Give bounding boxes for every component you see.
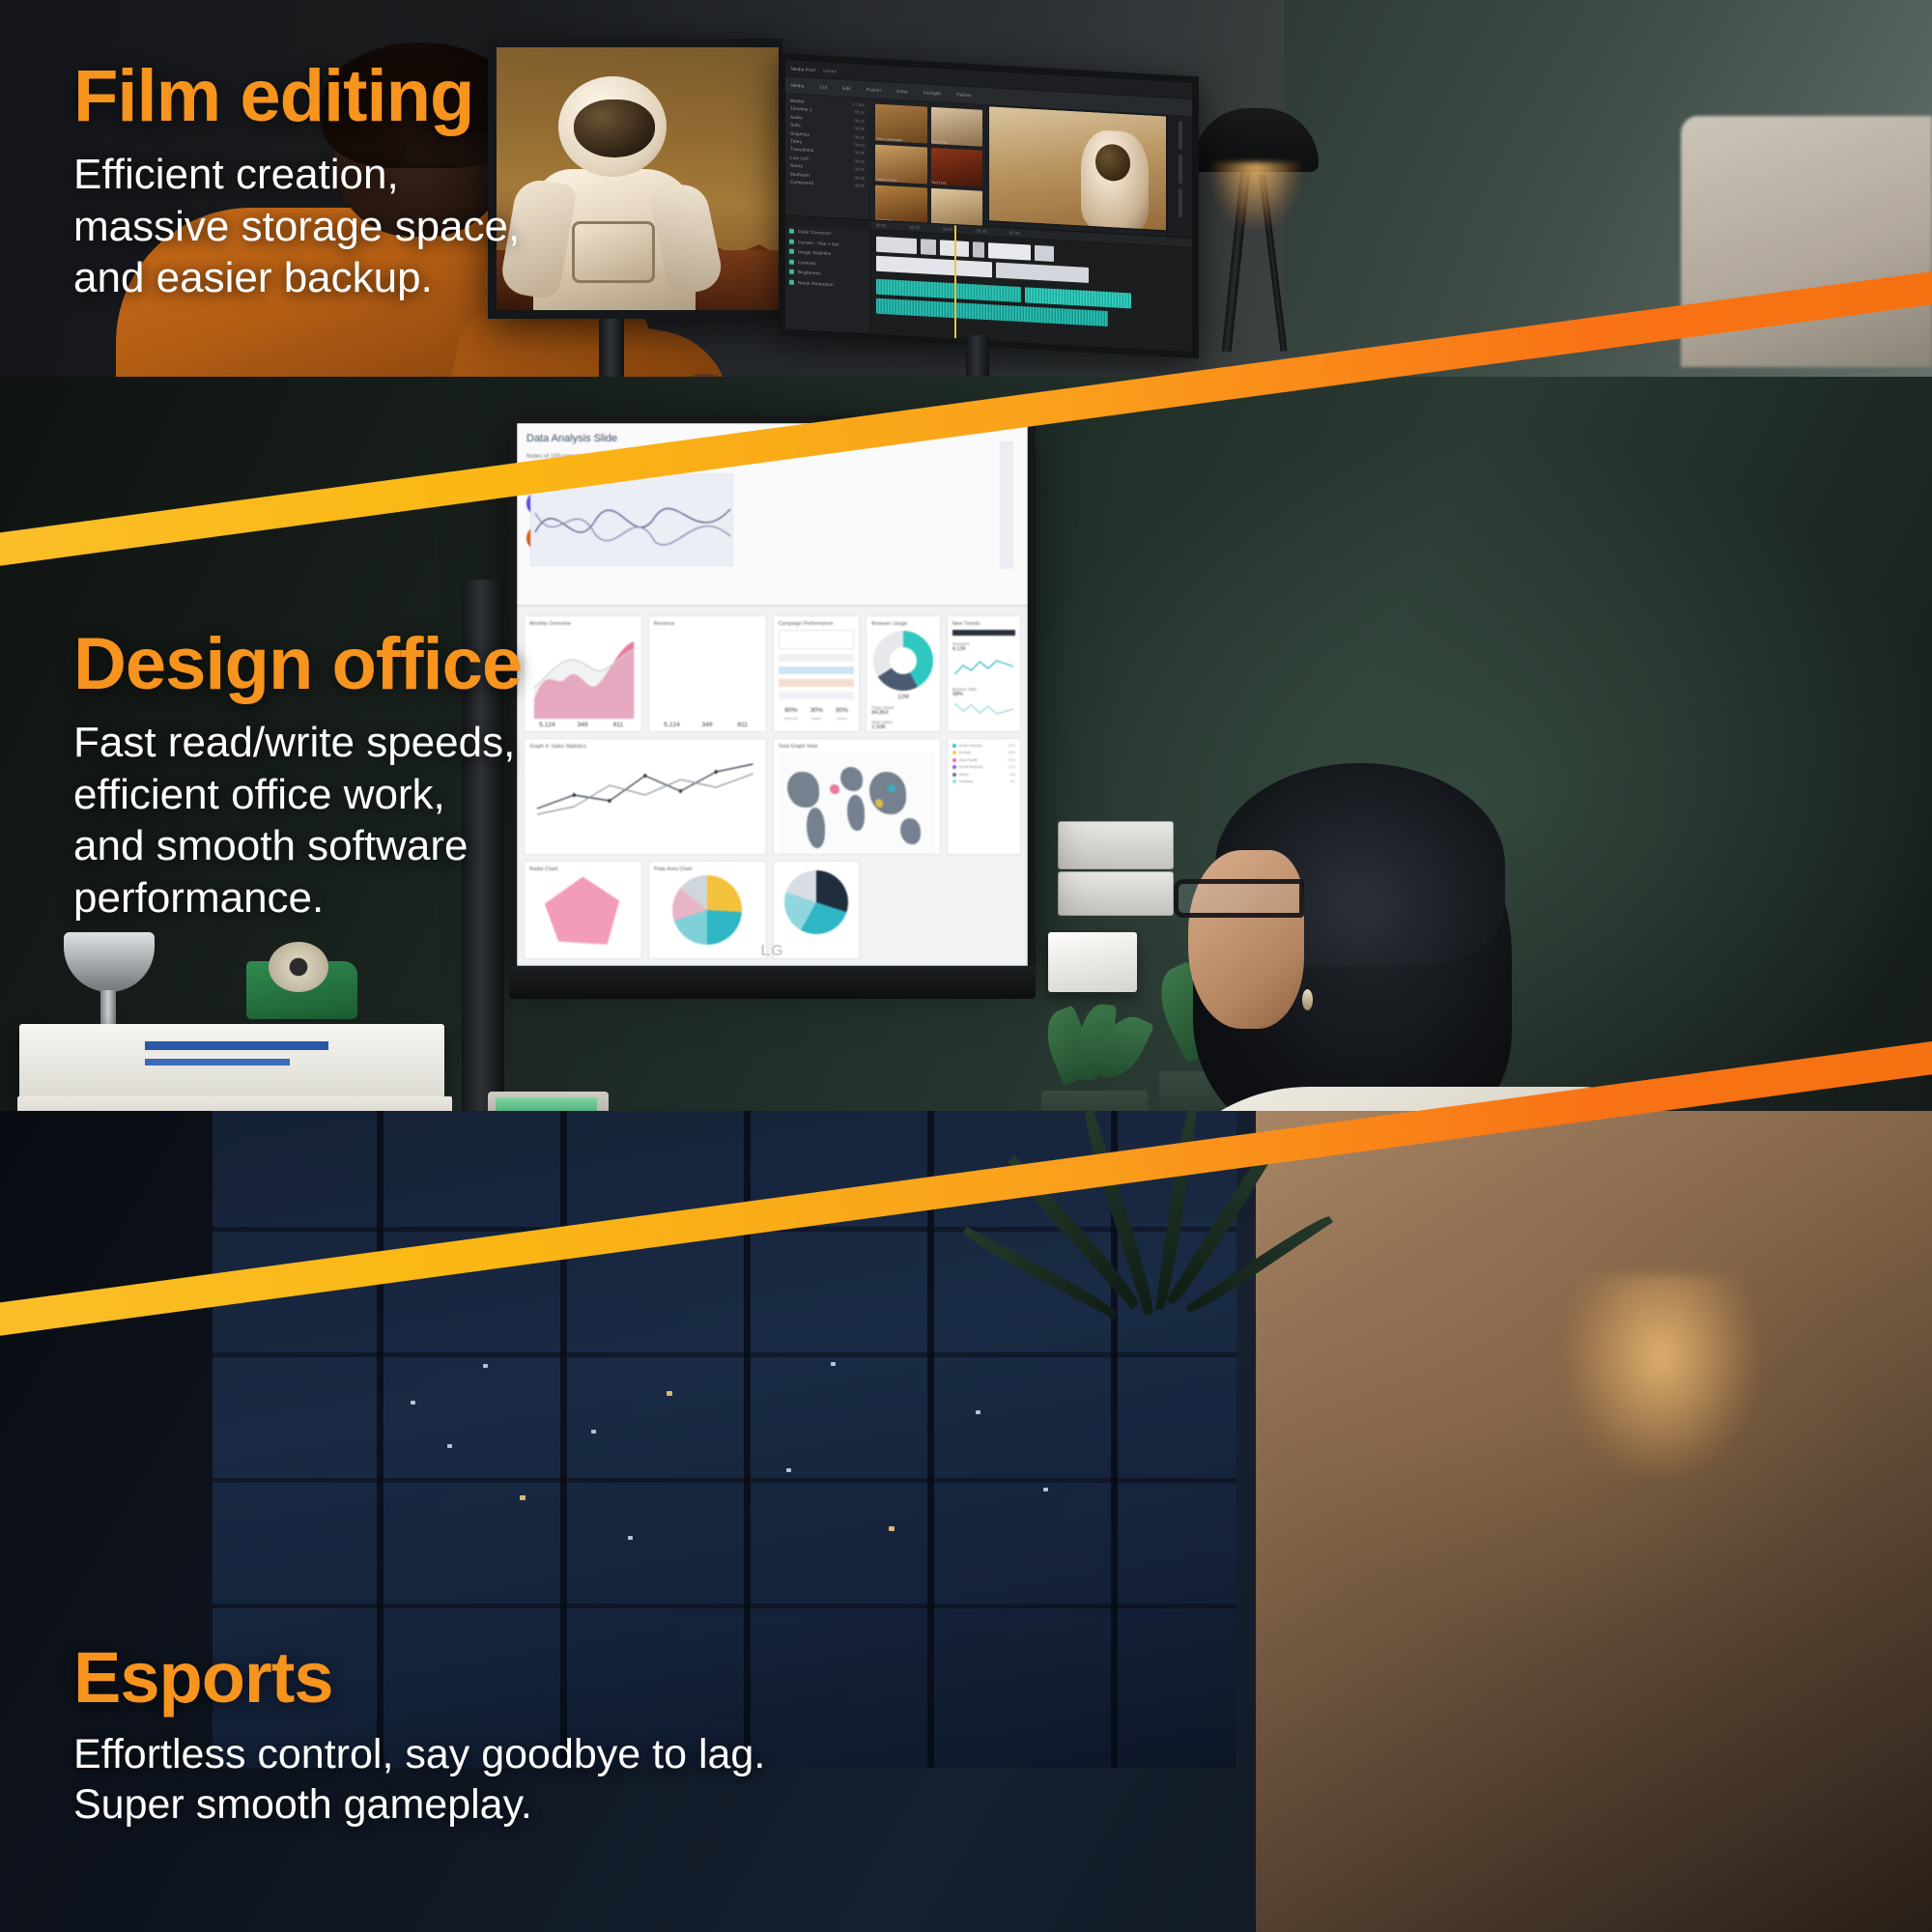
astronaut-visor: [574, 99, 655, 157]
video-editor-app: Media Pool Untitled Media Cut Edit Fusio…: [785, 60, 1192, 352]
legend-value: 21%: [1008, 758, 1015, 762]
radar-chart: [539, 875, 626, 951]
pie-chart: [672, 875, 742, 945]
film-editing-body: Efficient creation, massive storage spac…: [73, 149, 520, 304]
design-office-text-block: Design office Fast read/write speeds, ef…: [73, 628, 522, 924]
scope-slider[interactable]: [1179, 188, 1182, 217]
tab-deliver[interactable]: Deliver: [956, 92, 972, 98]
tab-media[interactable]: Media: [791, 83, 805, 89]
stat-label: Last Month: [733, 730, 753, 732]
legend-label: North America: [959, 744, 982, 748]
stat-value: 349: [574, 722, 592, 728]
stat-value: 5,124: [663, 722, 682, 728]
pie-chart: [784, 870, 848, 934]
clip-caption: Suit Detail: [932, 140, 948, 145]
media-row-value: 00:06: [855, 151, 865, 156]
media-row-label[interactable]: Titles: [790, 139, 802, 145]
media-row-label[interactable]: Compound: [790, 180, 813, 185]
storage-box: [1058, 871, 1174, 916]
ambient-lamp-glow: [1565, 1275, 1758, 1478]
tab-edit[interactable]: Edit: [842, 86, 851, 91]
legend-value: 11%: [1009, 765, 1015, 769]
legend-label: Europe: [959, 751, 971, 754]
inspector-row-name[interactable]: Noise Reduction: [798, 280, 834, 287]
clip-caption: Red Dust: [932, 181, 947, 185]
stat-value: 811: [733, 722, 753, 728]
film-editing-body-line-3: and easier backup.: [73, 252, 520, 304]
media-row-value: 00:02: [855, 167, 865, 173]
media-row-value: 00:05: [855, 183, 865, 188]
editor-title-project: Untitled: [823, 68, 837, 73]
timeline-track-headers[interactable]: Color Corrector Curves - Hue v Sat Image…: [785, 225, 870, 333]
media-row-value: 00:04: [855, 142, 865, 148]
dashboard-card-distribution[interactable]: [773, 861, 861, 959]
inspector-row-name[interactable]: Brightness: [798, 270, 821, 275]
media-row-label[interactable]: Notes: [790, 163, 803, 169]
media-row-value: 00:24: [855, 110, 865, 116]
ruler-tick: 00:10: [909, 225, 919, 231]
legend-value: 4%: [1010, 780, 1016, 783]
clip-thumbnail[interactable]: Visor Macro: [931, 188, 983, 228]
card-title: Polar Area Chart: [654, 867, 761, 872]
tab-fusion[interactable]: Fusion: [867, 87, 881, 93]
monitor-brand-badge: LG: [760, 943, 783, 960]
tab-cut[interactable]: Cut: [820, 84, 828, 89]
desk-lamp-glow: [1209, 162, 1302, 230]
warm-wall: [1256, 1111, 1932, 1932]
scope-slider[interactable]: [1179, 121, 1182, 150]
dashboard-card-polar-area[interactable]: Polar Area Chart: [648, 861, 767, 959]
inspector-row-name[interactable]: Curves - Hue v Sat: [798, 240, 838, 246]
film-editing-heading: Film editing: [73, 60, 520, 133]
clip-thumbnail[interactable]: Suit Detail: [931, 107, 983, 147]
esports-body-line-1: Effortless control, say goodbye to lag.: [73, 1729, 765, 1779]
track-enable-checkbox[interactable]: [789, 229, 794, 234]
dashboard-card-monthly-overview[interactable]: Monthly Overview 5,124Total Visits: [524, 615, 642, 732]
design-dashboard-monitor: Data Analysis Slide Notes of 100 pager h…: [509, 415, 1036, 966]
design-office-heading: Design office: [73, 628, 522, 701]
stat-label: Maintained: [663, 730, 682, 732]
designer-glasses: [1174, 879, 1304, 918]
editor-clip-bin[interactable]: Mars Landscape Suit Detail Helmet Close …: [871, 99, 987, 226]
track-enable-checkbox[interactable]: [789, 259, 794, 264]
timeline-playhead[interactable]: [954, 225, 956, 339]
dashboard-card-grid: Monthly Overview 5,124Total Visits: [517, 609, 1028, 966]
design-office-body-line-4: performance.: [73, 872, 522, 924]
trend-sparkline: [952, 697, 1015, 719]
map-legend-list: North America32% Europe26% Asia Pacific2…: [952, 744, 1015, 783]
trend-sparkline: [952, 657, 1015, 678]
dashboard-card-radar[interactable]: Radar Chart: [524, 861, 642, 959]
designer-earring: [1302, 989, 1313, 1010]
ruler-tick: 00:20: [943, 227, 952, 233]
world-map: [779, 753, 935, 855]
media-row-label[interactable]: Timeline 1: [790, 106, 812, 112]
legend-value: 6%: [1010, 773, 1016, 777]
bar-chart: [654, 630, 761, 719]
percent-value: 30%: [836, 707, 848, 714]
dashboard-card-revenue[interactable]: Revenue 5,124Maintained 349Last Load 811…: [648, 615, 767, 732]
clip-thumbnail[interactable]: Mars Landscape: [875, 104, 927, 144]
legend-value: 26%: [1008, 751, 1015, 754]
legend-label: Oceania: [959, 780, 973, 783]
card-title: Browser Usage: [871, 621, 934, 627]
media-row-label[interactable]: Master: [790, 99, 805, 104]
astronaut-figure: [514, 76, 712, 319]
media-row-label[interactable]: Stills: [790, 123, 801, 128]
inspector-row-name[interactable]: Color Corrector: [798, 229, 831, 236]
donut-center-value: 12M: [871, 695, 934, 700]
dashboard-card-map-legend[interactable]: North America32% Europe26% Asia Pacific2…: [947, 738, 1021, 855]
media-row-value: 00:08: [855, 127, 865, 132]
clip-thumbnail[interactable]: Rover Pan: [875, 185, 927, 225]
white-device-box: [1048, 932, 1137, 992]
stat-value: 349: [698, 722, 716, 728]
media-row-label[interactable]: Transitions: [790, 147, 814, 153]
film-editing-body-line-2: massive storage space,: [73, 201, 520, 253]
dashboard-card-browser-usage[interactable]: Browser Usage 12M Page Views 84,853 New …: [866, 615, 940, 732]
media-row-label[interactable]: Graphics: [790, 130, 810, 136]
scope-slider[interactable]: [1179, 155, 1182, 184]
editor-scopes-panel: [1167, 115, 1192, 237]
editor-media-tree[interactable]: Master4 Clips Timeline 100:24 Audio00:12…: [785, 94, 870, 219]
card-title: Revenue: [654, 621, 761, 627]
film-editing-text-block: Film editing Efficient creation, massive…: [73, 60, 520, 304]
hero-bar-strip: [999, 433, 1014, 578]
media-row-value: 4 Clips: [852, 101, 865, 107]
film-editing-monitor: Media Pool Untitled Media Cut Edit Fusio…: [779, 53, 1199, 358]
esports-body: Effortless control, say goodbye to lag. …: [73, 1729, 765, 1831]
stat-label: Total Visits: [538, 730, 556, 732]
card-title: Graph 4: Sales Statistics: [529, 744, 761, 750]
metric-value: 4,136: [952, 646, 1015, 652]
track-enable-checkbox[interactable]: [789, 270, 794, 274]
clip-caption: Helmet Close: [876, 178, 897, 183]
dashboard-card-sales-statistics[interactable]: Graph 4: Sales Statistics: [524, 738, 767, 855]
editor-timeline[interactable]: 00:00 00:10 00:20 00:30 00:40 Color Corr…: [785, 214, 1192, 352]
card-title: Radar Chart: [529, 867, 637, 872]
legend-label: Asia Pacific: [959, 758, 979, 762]
percent-label: Users: [836, 716, 848, 721]
track-enable-checkbox[interactable]: [789, 280, 794, 285]
ruler-tick: 00:30: [976, 228, 985, 234]
dashboard-card-new-trends[interactable]: New Trends Sessions 4,136 Bounce Rate 38…: [947, 615, 1021, 732]
esports-heading: Esports: [73, 1642, 765, 1714]
esports-text-block: Esports Effortless control, say goodbye …: [73, 1642, 765, 1831]
design-office-body-line-1: Fast read/write speeds,: [73, 717, 522, 769]
analytics-dashboard: Data Analysis Slide Notes of 100 pager h…: [517, 423, 1028, 966]
editor-title-media-pool: Media Pool: [791, 66, 815, 71]
percent-label: Reports: [784, 716, 798, 721]
stat-label: Last Week: [574, 730, 592, 732]
percent-value: 30%: [810, 707, 823, 714]
card-stats: 5,124Total Visits 349Last Week 811Last M…: [529, 722, 637, 732]
stat-value: 811: [609, 722, 628, 728]
clip-caption: Mars Landscape: [876, 137, 902, 142]
astronaut-chest-pack: [572, 221, 655, 283]
media-row-label[interactable]: Low Left: [790, 155, 809, 160]
donut-chart: [873, 631, 933, 691]
monitor-bottom-bezel: [509, 966, 1036, 999]
clip-thumbnail[interactable]: Red Dust: [931, 148, 983, 187]
storage-box: [1058, 821, 1174, 869]
legend-label: South America: [959, 765, 983, 769]
media-row-value: 00:09: [855, 175, 865, 181]
percent-value: 60%: [784, 707, 798, 714]
film-preview-monitor: [488, 39, 782, 319]
area-chart-svg: [529, 630, 637, 719]
percent-label: Sales: [810, 716, 823, 721]
media-row-value: 00:03: [855, 158, 865, 164]
media-row-label[interactable]: Audio: [790, 114, 803, 120]
metric-value: 84,853: [871, 710, 934, 716]
infographic-root: Media Pool Untitled Media Cut Edit Fusio…: [0, 0, 1932, 1932]
ruler-tick: 00:00: [876, 223, 886, 229]
stat-label: Last Load: [698, 730, 716, 732]
card-title: Campaign Performance: [779, 621, 855, 627]
card-title: New Trends: [952, 621, 1015, 627]
design-office-body-line-2: efficient office work,: [73, 769, 522, 821]
metric-value: 2,508: [871, 724, 934, 730]
card-percent-row: 60%Reports 30%Sales 30%Users: [779, 707, 855, 721]
media-row-value: 00:12: [855, 118, 865, 124]
ruler-tick: 00:40: [1009, 230, 1019, 236]
card-stats: 5,124Maintained 349Last Load 811Last Mon…: [654, 722, 761, 732]
film-editing-body-line-1: Efficient creation,: [73, 149, 520, 201]
dashboard-card-campaign-performance[interactable]: Campaign Performance 60%Reports 30%Sales…: [773, 615, 861, 732]
inspector-row-name[interactable]: Image Stabilize: [798, 249, 831, 256]
media-row-label[interactable]: Multicam: [790, 171, 810, 177]
tab-fairlight[interactable]: Fairlight: [923, 90, 941, 96]
design-office-body-line-3: and smooth software: [73, 820, 522, 872]
area-chart: [529, 630, 637, 719]
media-row-value: 00:16: [855, 134, 865, 140]
esports-body-line-2: Super smooth gameplay.: [73, 1779, 765, 1830]
dashboard-card-total-graph-view[interactable]: Total Graph View: [773, 738, 941, 855]
inspector-row-name[interactable]: Contrast: [798, 260, 816, 266]
track-enable-checkbox[interactable]: [789, 239, 794, 243]
tape-roll: [269, 942, 328, 992]
card-title: Monthly Overview: [529, 621, 637, 627]
track-enable-checkbox[interactable]: [789, 249, 794, 254]
line-chart-svg: [529, 753, 761, 824]
design-office-body: Fast read/write speeds, efficient office…: [73, 717, 522, 924]
stat-label: Last Month: [609, 730, 628, 732]
stat-value: 5,124: [538, 722, 556, 728]
card-title: Total Graph View: [779, 744, 935, 750]
tab-color[interactable]: Color: [896, 89, 908, 95]
legend-value: 32%: [1008, 744, 1015, 748]
legend-label: Africa: [959, 773, 969, 777]
designer-face: [1188, 850, 1304, 1029]
clip-thumbnail[interactable]: Helmet Close: [875, 145, 927, 185]
